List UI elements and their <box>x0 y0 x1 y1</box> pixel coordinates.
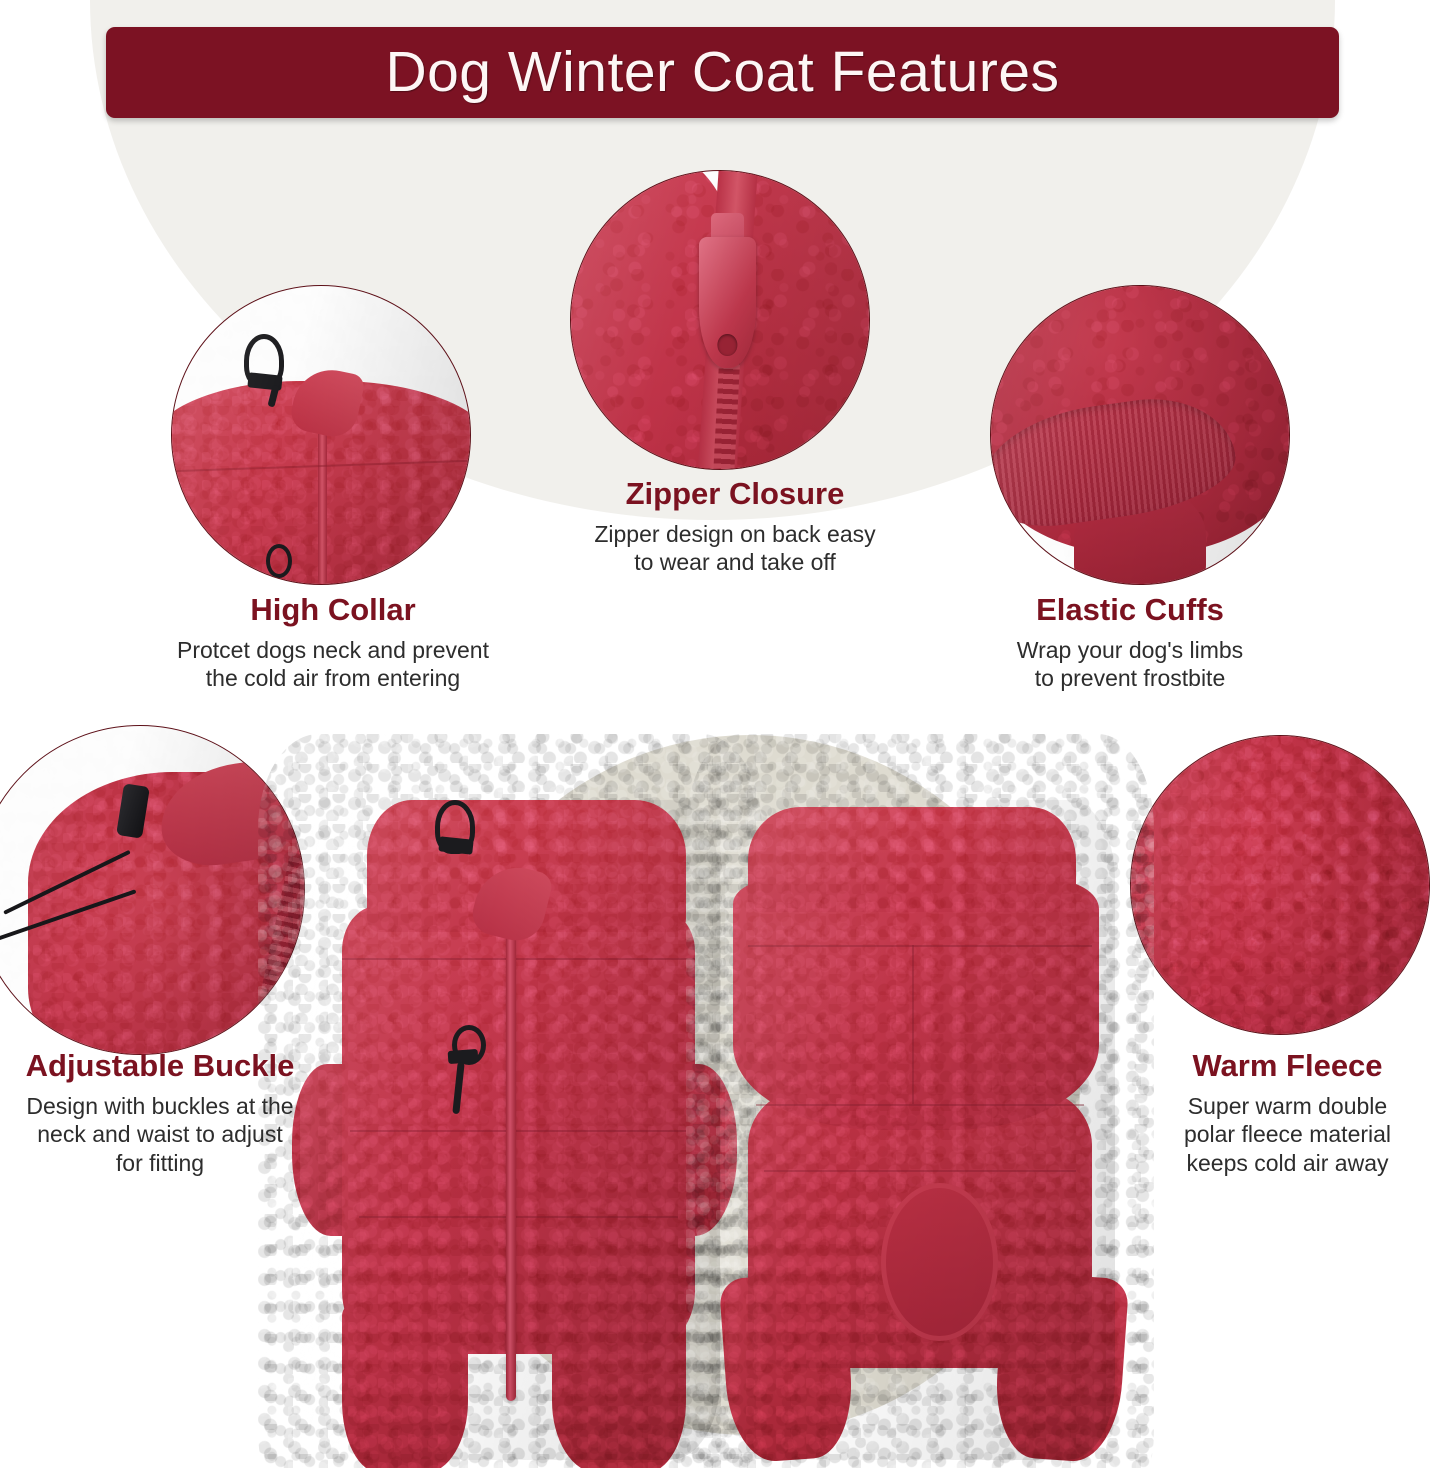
collar-lower-loop <box>266 544 292 578</box>
zipper-closure-photo <box>570 170 870 470</box>
page-title: Dog Winter Coat Features <box>385 44 1059 101</box>
high-collar-title: High Collar <box>88 592 578 629</box>
adjustable-buckle-title: Adjustable Buckle <box>0 1048 320 1085</box>
warm-fleece-photo <box>1130 735 1430 1035</box>
dog-coat-back-view <box>725 800 1115 1460</box>
elastic-cuffs-desc-line-1: Wrap your dog's limbs <box>940 636 1320 665</box>
caption-warm-fleece: Warm Fleece Super warm double polar flee… <box>1130 1048 1445 1178</box>
dog-coat-front-view <box>300 800 720 1460</box>
caption-elastic-cuffs: Elastic Cuffs Wrap your dog's limbs to p… <box>940 592 1320 693</box>
zipper-slider <box>699 237 756 368</box>
elastic-cuffs-desc-line-2: to prevent frostbite <box>940 664 1320 693</box>
front-zipper <box>506 886 516 1401</box>
warm-fleece-title: Warm Fleece <box>1130 1048 1445 1085</box>
high-collar-desc-line-2: the cold air from entering <box>88 664 578 693</box>
high-collar-photo <box>171 285 471 585</box>
infographic-canvas: Dog Winter Coat Features <box>0 0 1445 1468</box>
header-banner: Dog Winter Coat Features <box>106 27 1339 118</box>
elastic-cuffs-photo <box>990 285 1290 585</box>
warm-fleece-desc-line-1: Super warm double <box>1130 1092 1445 1121</box>
zipper-closure-title: Zipper Closure <box>500 476 970 513</box>
belly-opening <box>881 1183 998 1341</box>
front-waist-cord-lock <box>448 1049 479 1064</box>
warm-fleece-desc-line-3: keeps cold air away <box>1130 1149 1445 1178</box>
caption-adjustable-buckle: Adjustable Buckle Design with buckles at… <box>0 1048 320 1178</box>
adjustable-buckle-desc-line-2: neck and waist to adjust <box>0 1120 320 1149</box>
high-collar-desc-line-1: Protcet dogs neck and prevent <box>88 636 578 665</box>
warm-fleece-desc-line-2: polar fleece material <box>1130 1120 1445 1149</box>
zipper-closure-desc-line-1: Zipper design on back easy <box>500 520 970 549</box>
adjustable-buckle-desc-line-1: Design with buckles at the <box>0 1092 320 1121</box>
caption-zipper-closure: Zipper Closure Zipper design on back eas… <box>500 476 970 577</box>
zipper-closure-desc-line-2: to wear and take off <box>500 548 970 577</box>
adjustable-buckle-desc-line-3: for fitting <box>0 1149 320 1178</box>
caption-high-collar: High Collar Protcet dogs neck and preven… <box>88 592 578 693</box>
elastic-cuffs-title: Elastic Cuffs <box>940 592 1320 629</box>
